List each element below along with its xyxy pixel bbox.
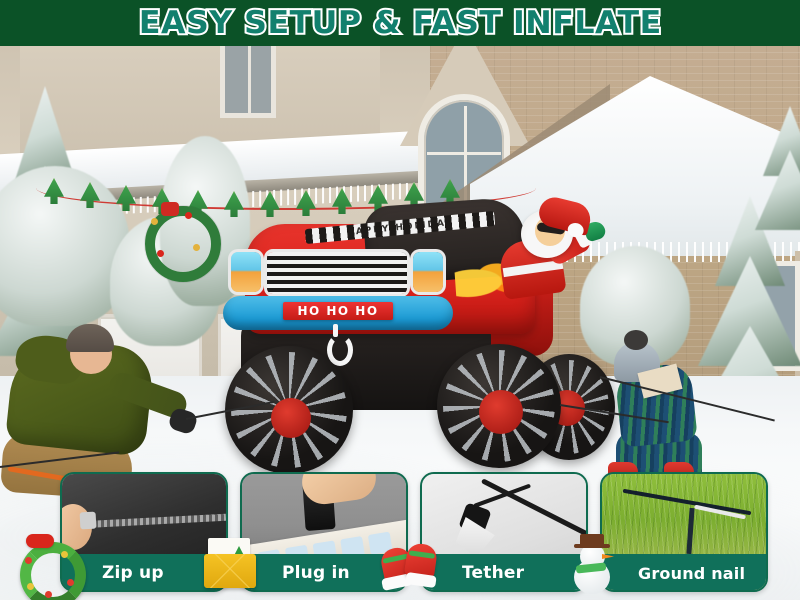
inflatable-monster-truck: HAPPY HOLIDAY SANTA HO HO HO xyxy=(205,196,605,496)
tire-rear-inner xyxy=(437,344,561,468)
pine-tree-far-right xyxy=(760,106,800,226)
license-plate: HO HO HO xyxy=(283,302,393,320)
bow-icon xyxy=(26,534,54,548)
carrot-nose-icon xyxy=(602,554,614,559)
card-label-bar: Ground nail xyxy=(600,554,768,592)
header-banner: EASY SETUP & FAST INFLATE xyxy=(0,0,800,46)
headlight-left xyxy=(231,252,261,292)
stake-icon xyxy=(686,508,694,554)
mittens-icon xyxy=(380,532,442,594)
page-title: EASY SETUP & FAST INFLATE xyxy=(139,5,662,41)
headlight-right xyxy=(413,252,443,292)
upper-window xyxy=(220,46,276,118)
child-reading xyxy=(600,336,720,486)
tire-front-left xyxy=(225,346,353,474)
feature-card-row: Zip up Plug in Teth xyxy=(0,472,800,600)
envelope-icon xyxy=(198,532,260,594)
top-hat-icon xyxy=(580,534,604,547)
product-feature-image: EASY SETUP & FAST INFLATE xyxy=(0,0,800,600)
beanie-icon xyxy=(66,324,114,352)
truck-grille xyxy=(267,252,407,294)
snowman-icon xyxy=(562,532,624,594)
wreath-icon xyxy=(12,532,74,594)
santa-figure xyxy=(493,204,603,296)
feature-card-ground-nail[interactable]: Ground nail xyxy=(600,472,768,592)
glove-icon xyxy=(167,407,199,436)
